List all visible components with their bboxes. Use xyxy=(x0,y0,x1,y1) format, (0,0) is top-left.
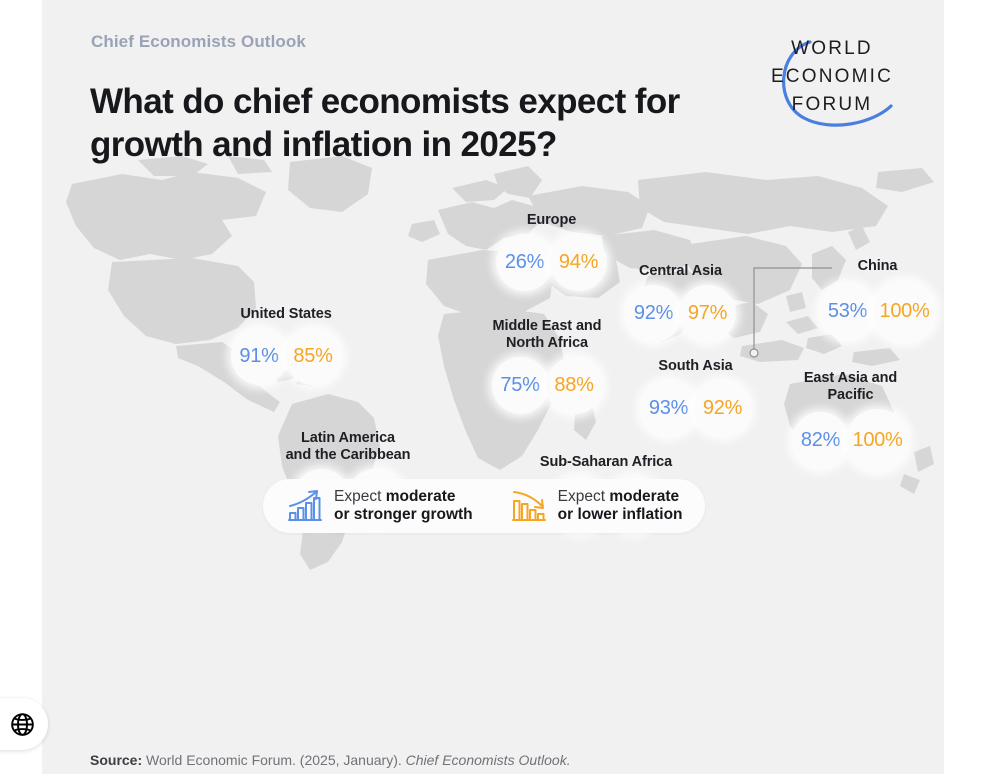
growth-value-bubble[interactable]: 91% xyxy=(231,328,288,385)
inflation-value-bubble[interactable]: 100% xyxy=(873,280,936,343)
infographic-panel: Chief Economists Outlook What do chief e… xyxy=(42,0,944,774)
region-label: Middle East and North Africa xyxy=(480,318,614,352)
region-cluster-united-states[interactable]: United States 91% 85% xyxy=(218,306,354,385)
region-cluster-europe[interactable]: Europe 26% 94% xyxy=(485,212,618,291)
growth-value-bubble[interactable]: 26% xyxy=(496,234,553,291)
region-bubbles: 92% 97% xyxy=(614,285,747,342)
inflation-value-bubble[interactable]: 97% xyxy=(679,285,736,342)
region-cluster-south-asia[interactable]: South Asia 93% 92% xyxy=(629,358,762,437)
region-bubbles: 53% 100% xyxy=(809,280,944,343)
region-bubbles: 91% 85% xyxy=(218,328,354,385)
source-line: Source: World Economic Forum. (2025, Jan… xyxy=(90,752,571,768)
rising-bar-chart-icon xyxy=(285,489,325,523)
legend-item-inflation: Expect moderate or lower inflation xyxy=(509,488,683,524)
source-text: World Economic Forum. (2025, January). xyxy=(142,752,406,768)
region-cluster-central-asia[interactable]: Central Asia 92% 97% xyxy=(614,263,747,342)
svg-text:FORUM: FORUM xyxy=(792,94,873,115)
legend: Expect moderate or stronger growth xyxy=(263,479,705,533)
region-label: Central Asia xyxy=(614,263,747,280)
source-label: Source: xyxy=(90,752,142,768)
svg-text:WORLD: WORLD xyxy=(791,38,873,59)
inflation-value-bubble[interactable]: 100% xyxy=(846,409,909,472)
region-label: Sub-Saharan Africa xyxy=(539,454,673,471)
region-bubbles: 26% 94% xyxy=(485,234,618,291)
falling-bar-chart-icon xyxy=(509,489,549,523)
source-publication: Chief Economists Outlook. xyxy=(406,752,571,768)
growth-value-bubble[interactable]: 82% xyxy=(792,412,849,469)
region-label: Europe xyxy=(485,212,618,229)
region-label: China xyxy=(809,258,944,275)
region-cluster-east-asia-and-pacific[interactable]: East Asia and Pacific 82% 100% xyxy=(782,370,919,472)
page-canvas: Chief Economists Outlook What do chief e… xyxy=(0,0,986,774)
svg-text:ECONOMIC: ECONOMIC xyxy=(771,66,893,87)
region-cluster-china[interactable]: China 53% 100% xyxy=(809,258,944,343)
globe-icon xyxy=(9,711,36,738)
growth-value-bubble[interactable]: 92% xyxy=(625,285,682,342)
legend-label-inflation: Expect moderate or lower inflation xyxy=(558,488,683,524)
eyebrow-label: Chief Economists Outlook xyxy=(91,32,306,52)
growth-value-bubble[interactable]: 53% xyxy=(819,283,876,340)
region-label: United States xyxy=(218,306,354,323)
inflation-value-bubble[interactable]: 92% xyxy=(694,380,751,437)
globe-chip-button[interactable] xyxy=(0,698,48,750)
legend-item-growth: Expect moderate or stronger growth xyxy=(285,488,473,524)
inflation-value-bubble[interactable]: 94% xyxy=(550,234,607,291)
region-label: East Asia and Pacific xyxy=(782,370,919,404)
region-label: Latin America and the Caribbean xyxy=(281,430,415,464)
growth-value-bubble[interactable]: 75% xyxy=(492,357,549,414)
region-label: South Asia xyxy=(629,358,762,375)
region-bubbles: 82% 100% xyxy=(782,409,919,472)
inflation-value-bubble[interactable]: 85% xyxy=(285,328,342,385)
region-bubbles: 93% 92% xyxy=(629,380,762,437)
world-economic-forum-logo: WORLD ECONOMIC FORUM xyxy=(748,28,916,128)
legend-label-growth: Expect moderate or stronger growth xyxy=(334,488,473,524)
region-cluster-middle-east-and-north-africa[interactable]: Middle East and North Africa 75% 88% xyxy=(480,318,614,414)
inflation-value-bubble[interactable]: 88% xyxy=(546,357,603,414)
growth-value-bubble[interactable]: 93% xyxy=(640,380,697,437)
region-bubbles: 75% 88% xyxy=(480,357,614,414)
